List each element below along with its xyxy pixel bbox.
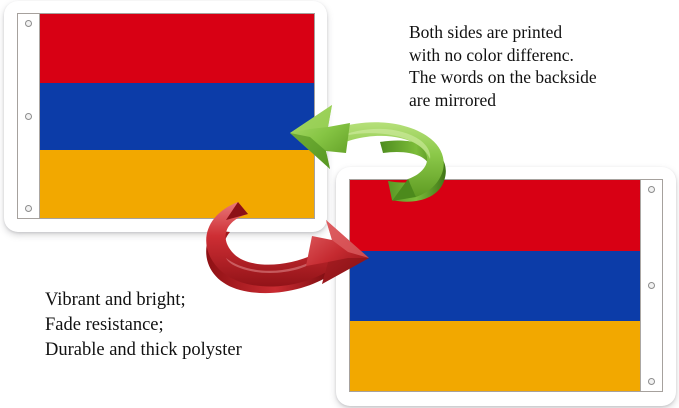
grommet-icon	[648, 282, 655, 289]
armenia-flag-front	[17, 13, 315, 219]
grommet-icon	[25, 205, 32, 212]
flag-band-blue	[18, 83, 314, 151]
flag-band-orange	[350, 321, 662, 391]
callout-line: Durable and thick polyster	[45, 338, 242, 363]
flag-card-back	[336, 167, 676, 406]
flag-card-front	[4, 1, 327, 232]
callout-line: Both sides are printed	[409, 21, 597, 44]
grommet-icon	[648, 378, 655, 385]
flag-band-blue	[350, 251, 662, 321]
armenia-flag-back-mirrored	[349, 179, 663, 392]
grommet-icon	[648, 186, 655, 193]
callout-line: are mirrored	[409, 89, 597, 112]
callout-line: Fade resistance;	[45, 313, 242, 338]
flag-band-red	[18, 14, 314, 83]
flag-hoist-sleeve-right	[640, 180, 662, 391]
callout-line: with no color differenc.	[409, 44, 597, 67]
print-quality-callout: Both sides are printed with no color dif…	[409, 21, 597, 111]
callout-line: The words on the backside	[409, 66, 597, 89]
flag-band-red	[350, 180, 662, 251]
flag-hoist-sleeve-left	[18, 14, 40, 218]
material-quality-callout: Vibrant and bright; Fade resistance; Dur…	[45, 288, 242, 363]
grommet-icon	[25, 113, 32, 120]
flag-band-orange	[18, 150, 314, 218]
grommet-icon	[25, 20, 32, 27]
callout-line: Vibrant and bright;	[45, 288, 242, 313]
product-image-canvas: Both sides are printed with no color dif…	[0, 0, 679, 408]
